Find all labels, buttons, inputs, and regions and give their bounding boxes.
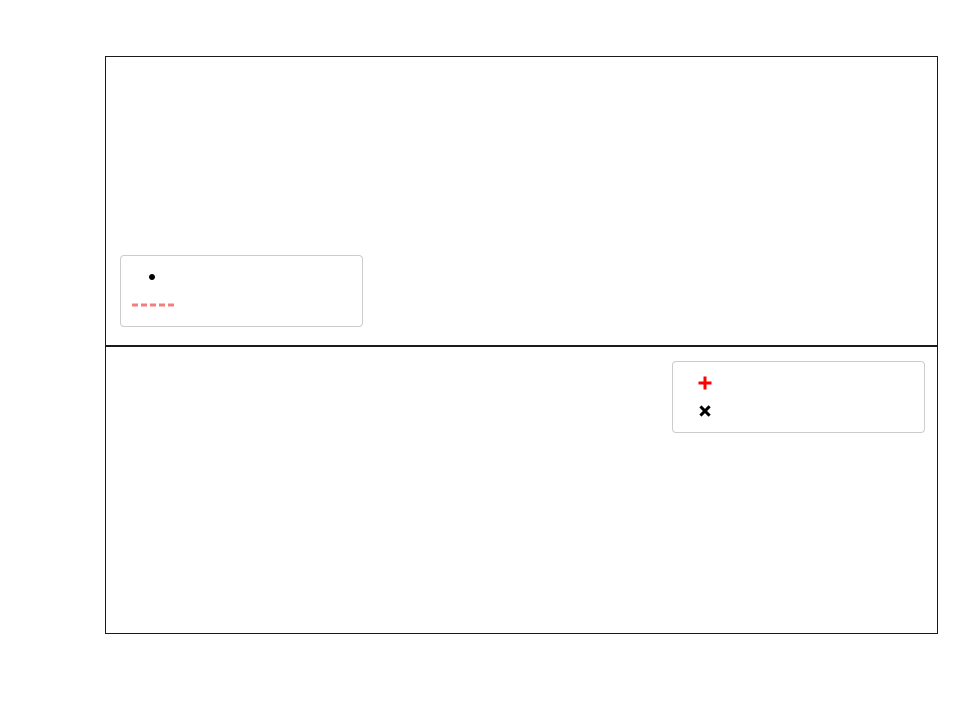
figure-root xyxy=(0,0,960,720)
top-panel-legend xyxy=(120,255,363,327)
legend-item-threshold xyxy=(130,291,351,319)
legend-item-matched-stars xyxy=(682,369,913,397)
bottom-panel-axes xyxy=(105,346,938,634)
predicted-cross-icon xyxy=(682,400,728,422)
top-panel-axes xyxy=(105,56,938,346)
bottom-panel-legend xyxy=(672,361,925,433)
measurements-dot-icon xyxy=(130,266,176,288)
legend-item-predicted-stars xyxy=(682,397,913,425)
matched-plus-icon xyxy=(682,372,728,394)
legend-item-measurements xyxy=(130,263,351,291)
threshold-dash-icon xyxy=(130,294,176,316)
